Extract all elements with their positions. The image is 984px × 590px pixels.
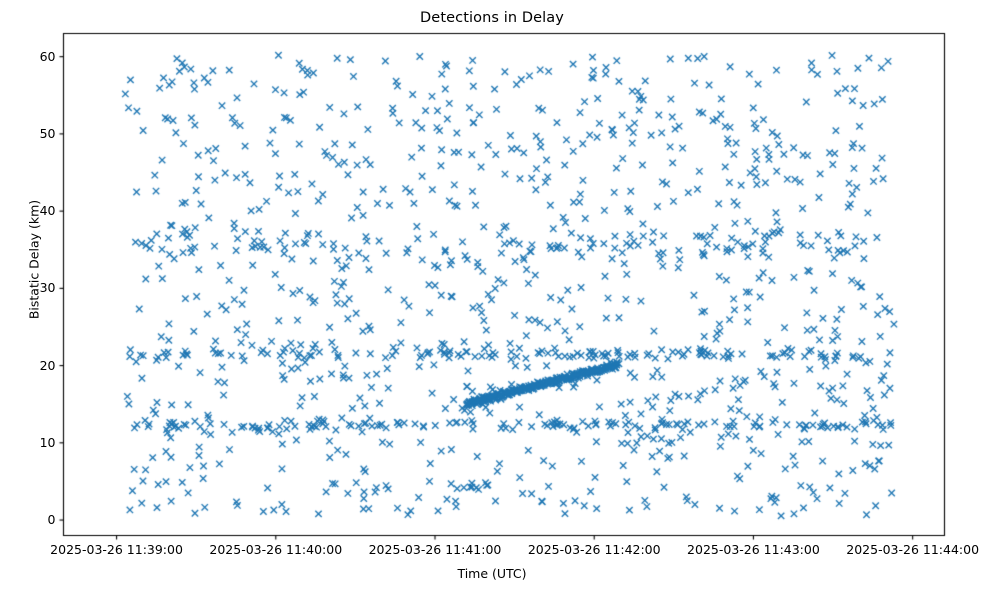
y-tick-label: 10 [10,435,56,450]
y-tick-label: 40 [10,203,56,218]
scatter-plot-canvas [0,0,984,590]
x-tick-text: 2025-03-26 11:44:00 [813,543,984,556]
y-tick-label: 0 [10,512,56,527]
page-title: Detections in Delay [0,10,984,26]
y-axis-label: Bistatic Delay (km) [27,130,42,390]
detections-in-delay-figure: Detections in Delay Time (UTC) Bistatic … [0,0,984,590]
x-tick-label: 2025-03-26 11:44:00 [813,543,984,556]
y-tick-label: 30 [10,280,56,295]
y-tick-label: 50 [10,126,56,141]
x-axis-label: Time (UTC) [0,566,984,581]
y-tick-label: 60 [10,49,56,64]
y-tick-label: 20 [10,358,56,373]
